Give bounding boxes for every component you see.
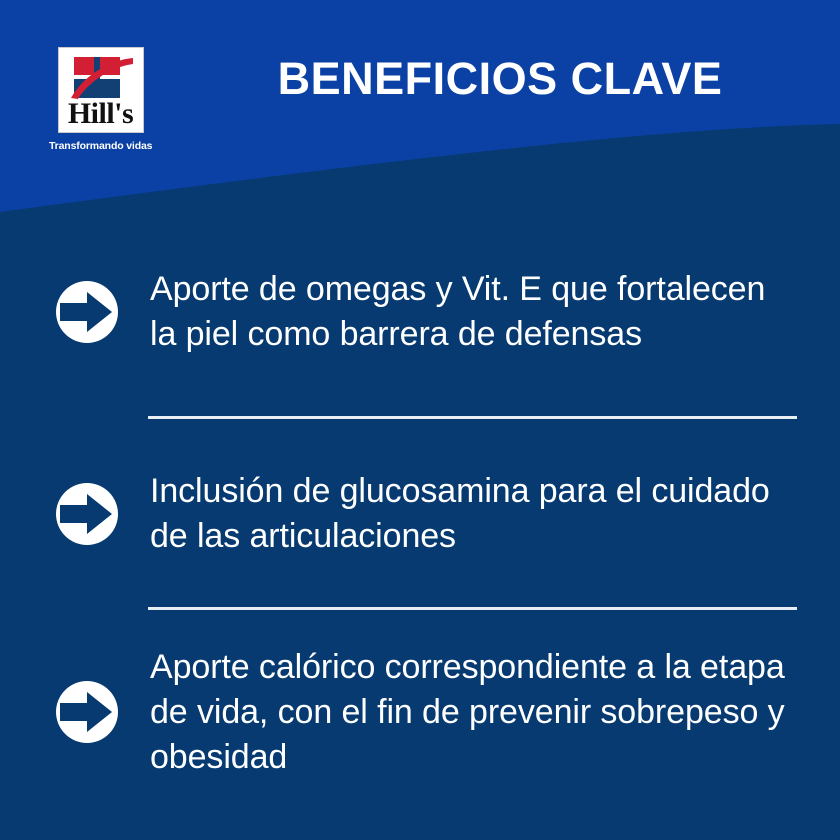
page-title: BENEFICIOS CLAVE: [200, 54, 800, 104]
arrow-right-circle-icon: [56, 281, 118, 343]
logo-tagline: Transformando vidas: [49, 140, 152, 152]
hills-h-monogram-icon: [70, 55, 134, 101]
benefit-text: Aporte de omegas y Vit. E que fortalecen…: [150, 267, 796, 357]
benefits-poster: Hill's Transformando vidas BENEFICIOS CL…: [0, 0, 840, 840]
arrow-right-circle-icon: [56, 681, 118, 743]
benefit-item: Aporte de omegas y Vit. E que fortalecen…: [0, 228, 840, 396]
benefits-list: Aporte de omegas y Vit. E que fortalecen…: [0, 228, 840, 796]
spacer: [0, 610, 840, 628]
spacer: [0, 396, 840, 416]
spacer: [0, 419, 840, 439]
hills-logo: Hill's Transformando vidas: [49, 47, 152, 152]
benefit-text: Inclusión de glucosamina para el cuidado…: [150, 469, 796, 559]
logo-wordmark: Hill's: [59, 98, 143, 130]
logo-plate: Hill's: [58, 47, 144, 133]
arrow-right-circle-icon: [56, 483, 118, 545]
benefit-item: Aporte calórico correspondiente a la eta…: [0, 628, 840, 796]
benefit-item: Inclusión de glucosamina para el cuidado…: [0, 439, 840, 589]
spacer: [0, 589, 840, 607]
benefit-text: Aporte calórico correspondiente a la eta…: [150, 645, 796, 780]
